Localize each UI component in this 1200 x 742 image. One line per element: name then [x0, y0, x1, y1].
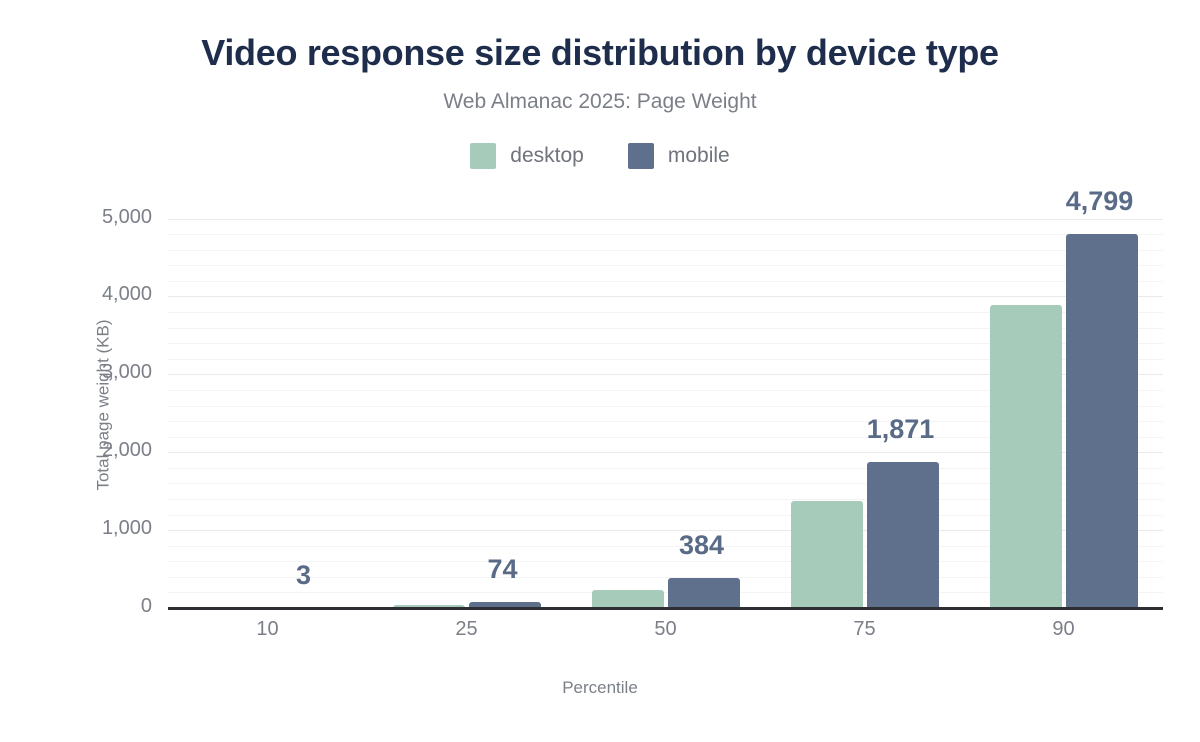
- bar-value-label-p10: 3: [296, 560, 311, 591]
- y-axis-tick-label: 2,000: [0, 439, 152, 462]
- gridline: [168, 296, 1163, 297]
- x-axis-tick-label-75: 75: [853, 618, 875, 641]
- bar-value-label-p90: 4,799: [1066, 186, 1134, 217]
- bar-mobile-p90[interactable]: [1066, 234, 1138, 608]
- x-axis-tick-label-10: 10: [256, 618, 278, 641]
- bar-value-label-p75: 1,871: [867, 414, 935, 445]
- bar-mobile-p75[interactable]: [867, 462, 939, 608]
- gridline: [168, 265, 1163, 266]
- legend-swatch-desktop: [470, 143, 496, 169]
- legend-item-desktop[interactable]: desktop: [470, 143, 584, 169]
- y-axis-tick-label: 1,000: [0, 517, 152, 540]
- chart-container: Video response size distribution by devi…: [0, 0, 1200, 742]
- legend-label-mobile: mobile: [668, 144, 730, 168]
- x-axis-tick-label-50: 50: [654, 618, 676, 641]
- bar-mobile-p50[interactable]: [668, 578, 740, 608]
- y-axis-title: Total page weight (KB): [94, 319, 114, 490]
- x-axis-tick-label-90: 90: [1052, 618, 1074, 641]
- gridline: [168, 250, 1163, 251]
- bar-desktop-p75[interactable]: [791, 501, 863, 608]
- bar-value-label-p25: 74: [487, 554, 517, 585]
- gridline: [168, 281, 1163, 282]
- legend-swatch-mobile: [628, 143, 654, 169]
- x-axis-line: [168, 607, 1163, 610]
- legend-item-mobile[interactable]: mobile: [628, 143, 730, 169]
- chart-title: Video response size distribution by devi…: [0, 32, 1200, 74]
- chart-legend: desktop mobile: [0, 143, 1200, 169]
- gridline: [168, 219, 1163, 220]
- y-axis-tick-label: 5,000: [0, 206, 152, 229]
- plot-area: [168, 203, 1163, 608]
- x-axis-tick-label-25: 25: [455, 618, 477, 641]
- gridline: [168, 234, 1163, 235]
- legend-label-desktop: desktop: [510, 144, 584, 168]
- bar-desktop-p90[interactable]: [990, 305, 1062, 608]
- chart-subtitle: Web Almanac 2025: Page Weight: [0, 90, 1200, 114]
- bar-desktop-p50[interactable]: [592, 590, 664, 608]
- y-axis-tick-label: 0: [0, 595, 152, 618]
- y-axis-tick-label: 3,000: [0, 361, 152, 384]
- bar-value-label-p50: 384: [679, 530, 724, 561]
- y-axis-tick-label: 4,000: [0, 283, 152, 306]
- x-axis-title: Percentile: [0, 678, 1200, 698]
